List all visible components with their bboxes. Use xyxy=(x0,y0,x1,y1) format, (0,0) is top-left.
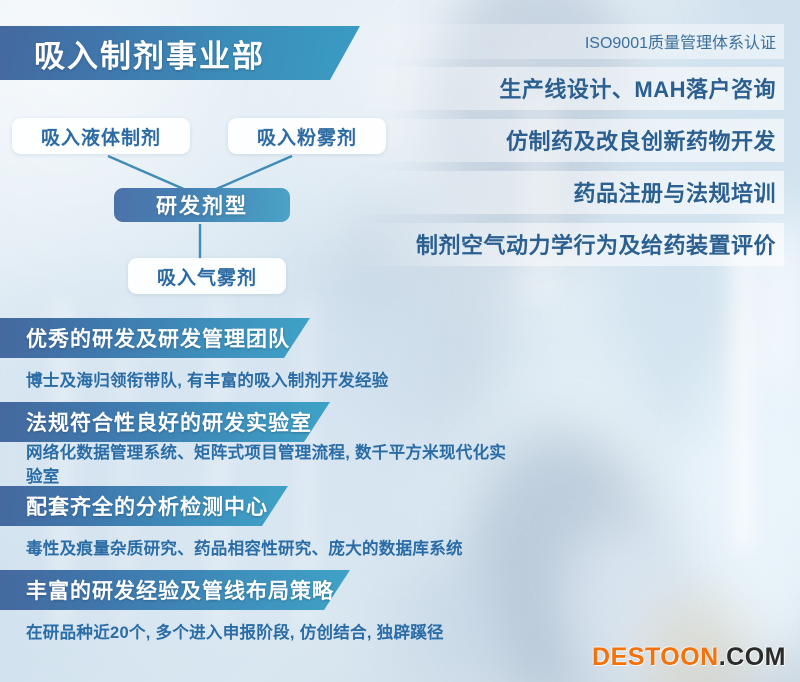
mindmap-node-label: 吸入粉雾剂 xyxy=(257,123,357,150)
feature-item: 配套齐全的分析检测中心毒性及痕量杂质研究、药品相容性研究、庞大的数据库系统 xyxy=(0,486,520,568)
feature-detail-text: 网络化数据管理系统、矩阵式项目管理流程, 数千平方米现代化实验室 xyxy=(26,439,520,487)
service-list-item: 生产线设计、MAH落户咨询 xyxy=(354,67,784,110)
mindmap-node-label: 吸入气雾剂 xyxy=(157,263,257,290)
feature-headline-text: 法规符合性良好的研发实验室 xyxy=(26,407,312,437)
feature-detail-text: 毒性及痕量杂质研究、药品相容性研究、庞大的数据库系统 xyxy=(26,535,463,559)
feature-item: 丰富的研发经验及管线布局策略在研品种近20个, 多个进入申报阶段, 仿创结合, … xyxy=(0,570,520,652)
mindmap-node-liquid[interactable]: 吸入液体制剂 xyxy=(12,118,190,154)
dosage-form-mindmap: 吸入液体制剂 吸入粉雾剂 吸入气雾剂 研发剂型 xyxy=(0,110,400,300)
feature-item: 法规符合性良好的研发实验室网络化数据管理系统、矩阵式项目管理流程, 数千平方米现… xyxy=(0,402,520,484)
feature-headline-text: 丰富的研发经验及管线布局策略 xyxy=(26,575,334,605)
mindmap-node-label: 吸入液体制剂 xyxy=(41,123,161,150)
watermark-brand: DESTOON xyxy=(592,643,719,671)
service-list-item: 仿制药及改良创新药物开发 xyxy=(354,119,784,162)
background-blur-shape xyxy=(690,330,800,660)
mindmap-node-aerosol[interactable]: 吸入气雾剂 xyxy=(128,258,286,294)
service-list-item: ISO9001质量管理体系认证 xyxy=(354,24,784,59)
service-list-item: 药品注册与法规培训 xyxy=(354,171,784,214)
feature-detail-row: 博士及海归领衔带队, 有丰富的吸入制剂开发经验 xyxy=(0,358,520,400)
title-banner: 吸入制剂事业部 xyxy=(0,26,360,80)
background-light-streak xyxy=(735,250,751,550)
feature-detail-text: 在研品种近20个, 多个进入申报阶段, 仿创结合, 独辟蹊径 xyxy=(26,619,444,643)
feature-headline-bar: 丰富的研发经验及管线布局策略 xyxy=(0,570,350,610)
feature-list: 优秀的研发及研发管理团队博士及海归领衔带队, 有丰富的吸入制剂开发经验法规符合性… xyxy=(0,318,520,654)
feature-detail-text: 博士及海归领衔带队, 有丰富的吸入制剂开发经验 xyxy=(26,367,389,391)
feature-headline-bar: 配套齐全的分析检测中心 xyxy=(0,486,288,526)
feature-headline-text: 优秀的研发及研发管理团队 xyxy=(26,323,290,353)
mindmap-core-node[interactable]: 研发剂型 xyxy=(114,188,290,222)
feature-headline-bar: 法规符合性良好的研发实验室 xyxy=(0,402,330,442)
feature-detail-row: 网络化数据管理系统、矩阵式项目管理流程, 数千平方米现代化实验室 xyxy=(0,442,520,484)
watermark: DESTOON.COM xyxy=(592,643,786,672)
feature-item: 优秀的研发及研发管理团队博士及海归领衔带队, 有丰富的吸入制剂开发经验 xyxy=(0,318,520,400)
feature-detail-row: 毒性及痕量杂质研究、药品相容性研究、庞大的数据库系统 xyxy=(0,526,520,568)
service-list-item: 制剂空气动力学行为及给药装置评价 xyxy=(354,223,784,266)
mindmap-core-label: 研发剂型 xyxy=(156,190,248,220)
mindmap-node-powder[interactable]: 吸入粉雾剂 xyxy=(228,118,386,154)
service-list: ISO9001质量管理体系认证生产线设计、MAH落户咨询仿制药及改良创新药物开发… xyxy=(354,24,784,275)
feature-headline-text: 配套齐全的分析检测中心 xyxy=(26,491,268,521)
feature-headline-bar: 优秀的研发及研发管理团队 xyxy=(0,318,310,358)
poster-root: 吸入制剂事业部 ISO9001质量管理体系认证生产线设计、MAH落户咨询仿制药及… xyxy=(0,0,800,682)
watermark-tld: .COM xyxy=(719,643,786,671)
feature-detail-row: 在研品种近20个, 多个进入申报阶段, 仿创结合, 独辟蹊径 xyxy=(0,610,520,652)
page-title: 吸入制剂事业部 xyxy=(34,31,265,76)
